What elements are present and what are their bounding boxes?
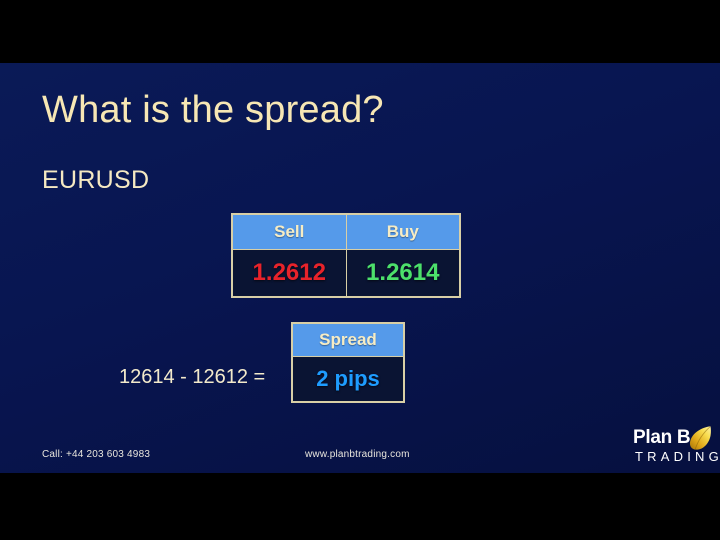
- page-title: What is the spread?: [42, 91, 384, 129]
- spread-equation: 12614 - 12612 =: [119, 366, 265, 389]
- presentation-slide: What is the spread? EURUSD Sell Buy 1.26…: [0, 63, 720, 473]
- footer-phone-number: Call: +44 203 603 4983: [42, 449, 150, 460]
- letterbox-top-bar: [0, 0, 720, 63]
- currency-pair-label: EURUSD: [42, 166, 149, 195]
- quote-header-buy: Buy: [346, 214, 460, 250]
- logo-secondary-text: TRADING: [635, 449, 720, 464]
- table-row-spread-header: Spread: [292, 323, 404, 357]
- table-row-values: 1.2612 1.2614: [232, 250, 460, 298]
- brand-logo: Plan B TRADING: [600, 425, 712, 471]
- quote-table: Sell Buy 1.2612 1.2614: [231, 213, 461, 298]
- logo-primary-text: Plan B: [633, 427, 690, 449]
- table-row-headers: Sell Buy: [232, 214, 460, 250]
- spread-header: Spread: [292, 323, 404, 357]
- quote-value-sell: 1.2612: [232, 250, 346, 298]
- quote-value-buy: 1.2614: [346, 250, 460, 298]
- letterbox-bottom-bar: [0, 473, 720, 540]
- video-player-frame: What is the spread? EURUSD Sell Buy 1.26…: [0, 0, 720, 540]
- table-row-spread-value: 2 pips: [292, 357, 404, 403]
- footer-website: www.planbtrading.com: [305, 449, 410, 460]
- quote-header-sell: Sell: [232, 214, 346, 250]
- spread-value: 2 pips: [292, 357, 404, 403]
- leaf-icon: [688, 425, 712, 451]
- spread-table: Spread 2 pips: [291, 322, 405, 403]
